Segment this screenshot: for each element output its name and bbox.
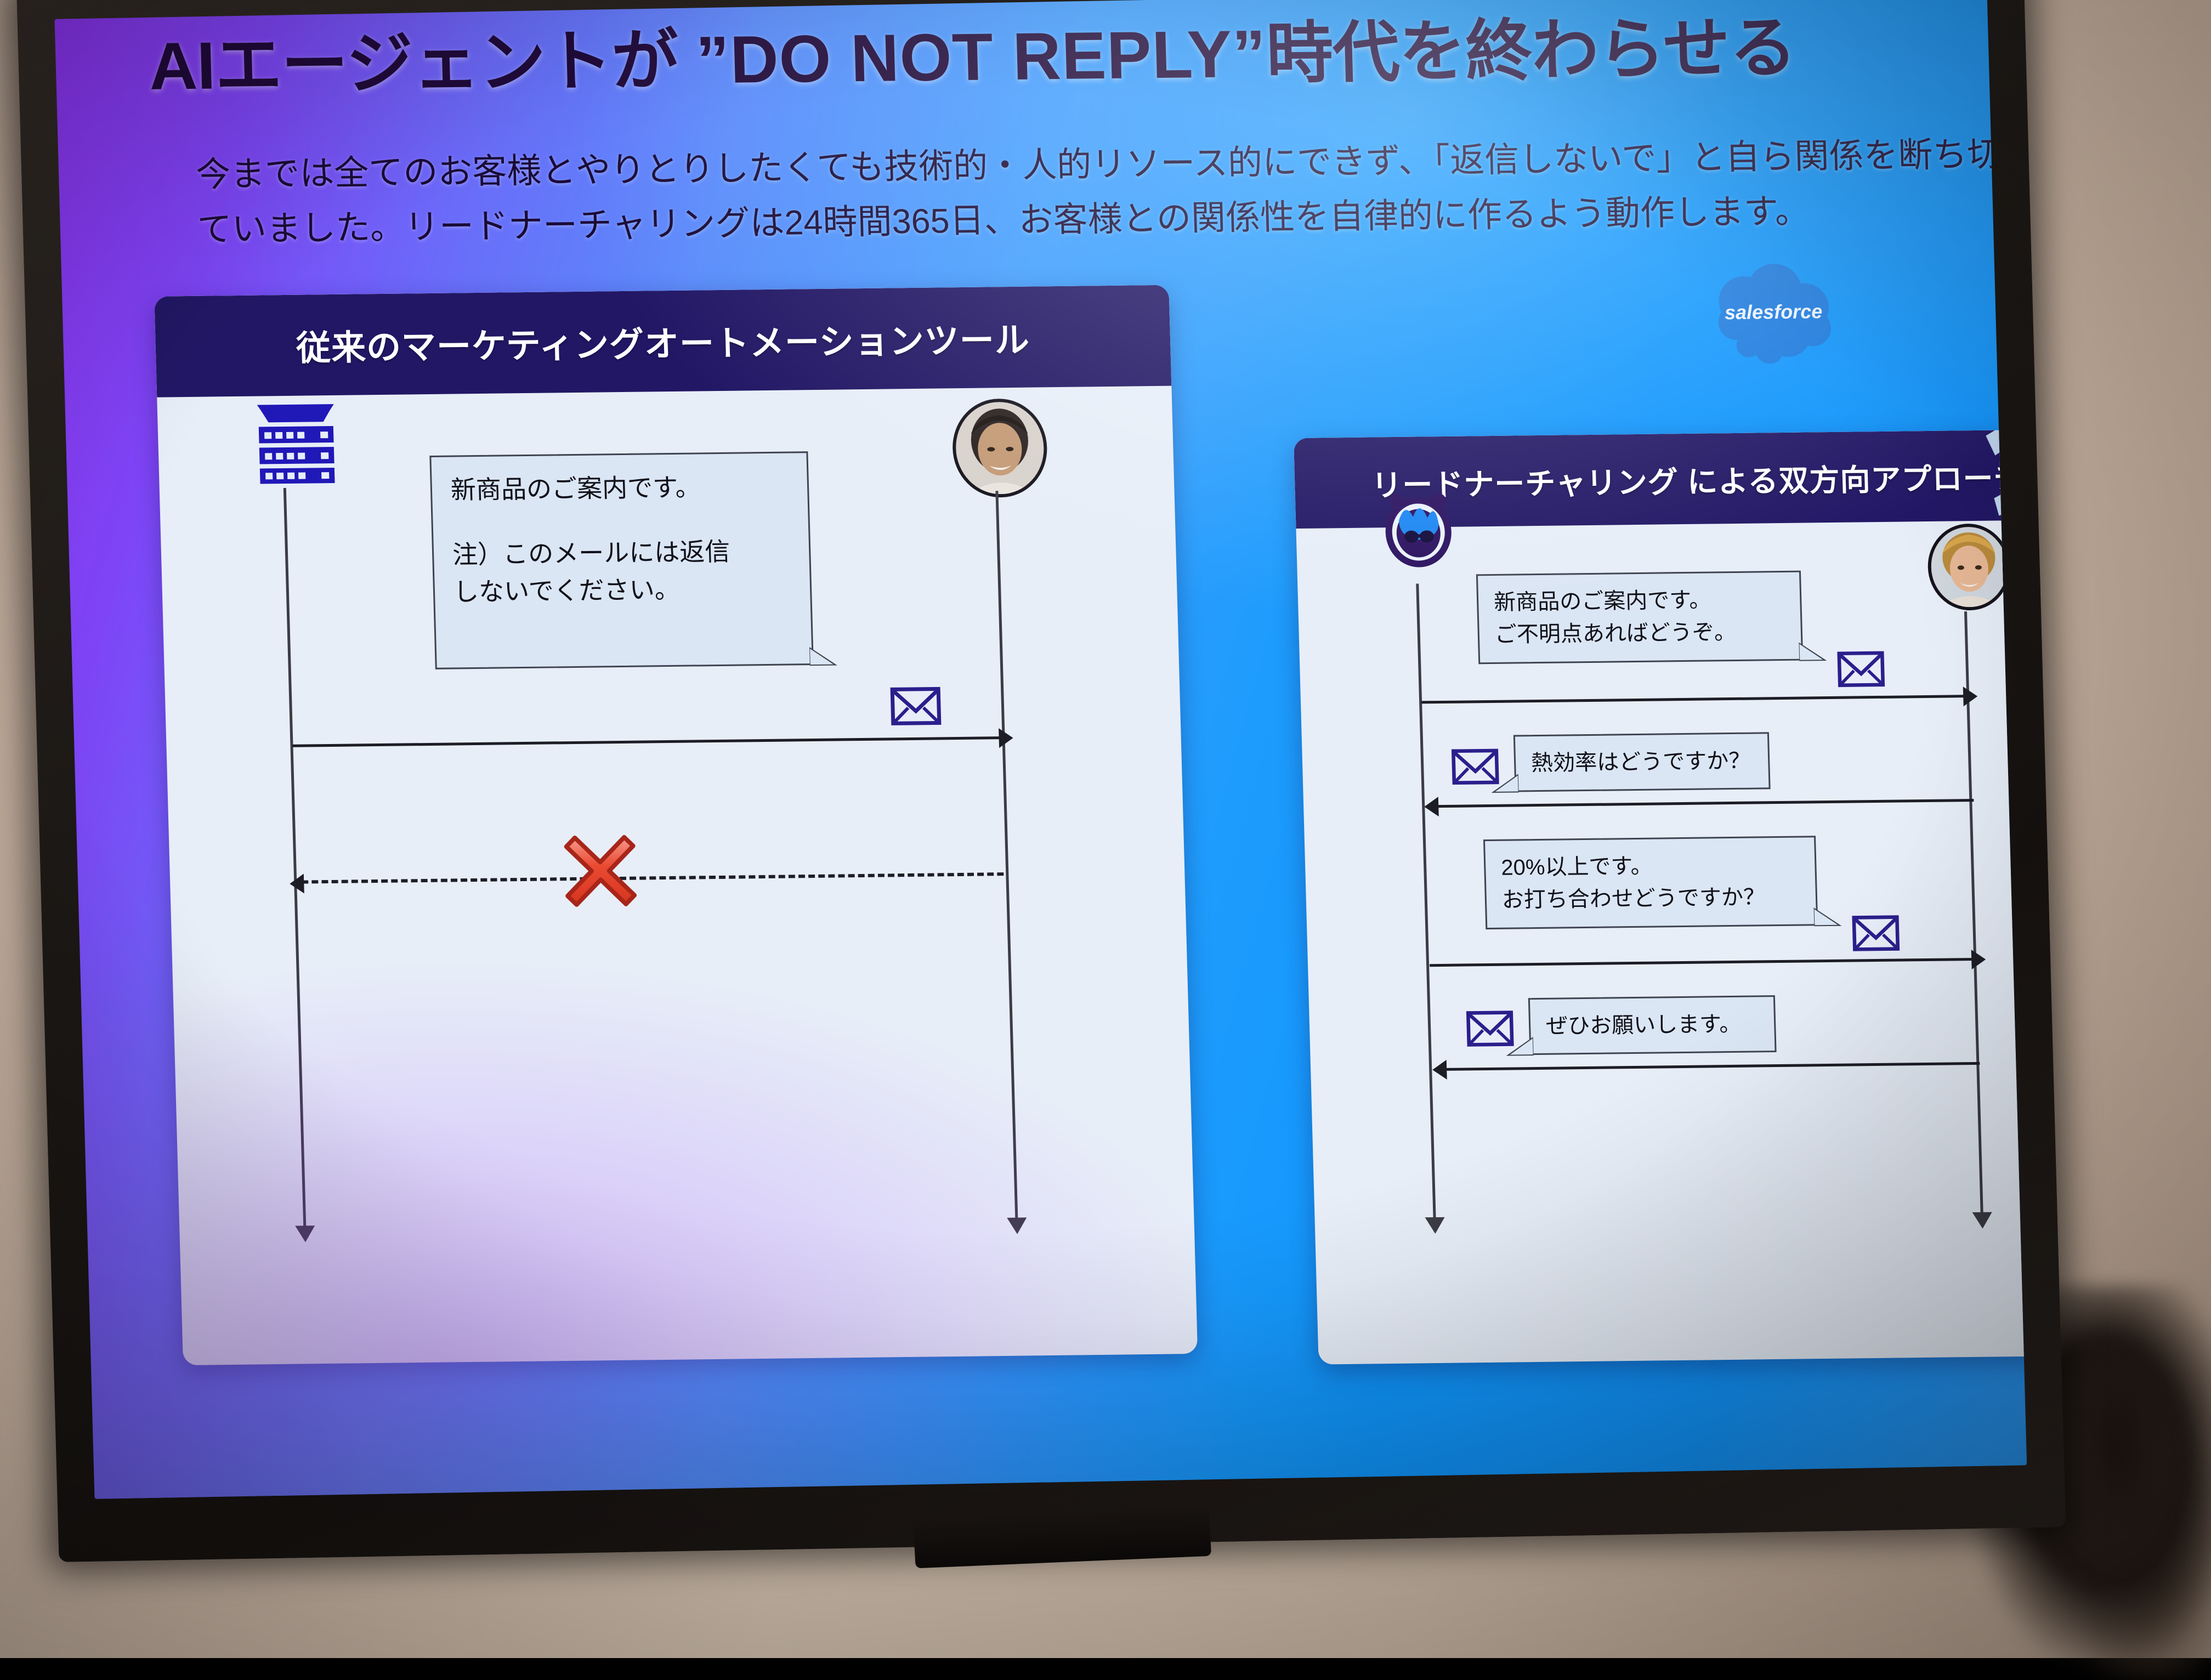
arrow-nurturing-3: [1430, 958, 1974, 967]
bubble-line-1: ぜひお願いします。: [1545, 1008, 1760, 1043]
red-cross-mark-icon: [553, 824, 649, 918]
headline-part-2: 時代を終わらせる: [1266, 10, 1797, 91]
lifeline-customer: [995, 491, 1018, 1220]
bubble-line-1: 20%以上です。: [1501, 849, 1801, 884]
panel-legacy-marketing-automation: 従来のマーケティングオートメーションツール: [154, 285, 1198, 1365]
lifeline-server: [284, 488, 307, 1228]
person-avatar-male: [951, 398, 1048, 498]
bubble-nurturing-4: ぜひお願いします。: [1528, 995, 1777, 1055]
envelope-icon: [1852, 915, 1900, 952]
arrow-nurturing-4: [1444, 1062, 1980, 1071]
bubble-line-1: 熱効率はどうですか？: [1530, 745, 1754, 780]
envelope-icon: [1451, 748, 1499, 785]
headline-part-1: AIエージェントが: [148, 23, 697, 104]
envelope-icon: [890, 686, 942, 725]
bubble-line-2: お打ち合わせどうですか？: [1501, 881, 1802, 917]
salesforce-logo: salesforce: [1704, 261, 1844, 367]
headline-part-en: ”DO NOT REPLY”: [695, 16, 1268, 98]
arrow-nurturing-2: [1436, 799, 1974, 808]
bubble-tail: [1814, 907, 1842, 927]
server-icon: [246, 402, 347, 485]
arrow-nurturing-1: [1421, 695, 1965, 703]
bubble-tail: [809, 647, 837, 666]
bubble-nurturing-2: 熱効率はどうですか？: [1513, 732, 1771, 792]
panel-lead-nurturing: リードナーチャリング による双方向アプローチ: [1294, 429, 2027, 1364]
bubble-nurturing-1: 新商品のご案内です。 ご不明点あればどうぞ。: [1476, 571, 1803, 665]
slide-lede-paragraph: 今までは全てのお客様とやりとりしたくても技術的・人的リソース的にできず、「返信し…: [195, 127, 2027, 257]
envelope-icon: [1466, 1011, 1514, 1047]
bubble-line-spacer: [451, 505, 792, 536]
room-background: AIエージェントが ”DO NOT REPLY”時代を終わらせる 今までは全ての…: [0, 0, 2211, 1658]
avatar-photo: [1930, 526, 2008, 608]
slide-headline: AIエージェントが ”DO NOT REPLY”時代を終わらせる: [148, 8, 1905, 106]
arrow-outbound-email: [292, 736, 1001, 747]
television: AIエージェントが ”DO NOT REPLY”時代を終わらせる 今までは全ての…: [16, 0, 2066, 1562]
avatar-photo: [955, 401, 1045, 495]
lifeline-agent: [1416, 584, 1436, 1220]
envelope-icon: [1837, 651, 1885, 688]
bubble-line-3: 注）このメールには返信: [452, 532, 793, 574]
presentation-slide: AIエージェントが ”DO NOT REPLY”時代を終わらせる 今までは全ての…: [55, 0, 2027, 1499]
arrow-blocked-reply: [302, 872, 1004, 884]
bubble-legacy-outbound: 新商品のご案内です。 注）このメールには返信 しないでください。: [429, 451, 814, 669]
bubble-line-1: 新商品のご案内です。: [1493, 583, 1786, 619]
bot-face-icon: [1376, 486, 1460, 575]
tv-screen: AIエージェントが ”DO NOT REPLY”時代を終わらせる 今までは全ての…: [55, 0, 2027, 1499]
bubble-line-4: しないでください。: [453, 570, 794, 611]
panel-nurturing-body: 新商品のご案内です。 ご不明点あればどうぞ。: [1294, 429, 2027, 1364]
bubble-line-2: ご不明点あればどうぞ。: [1494, 616, 1787, 651]
bubble-tail: [1799, 642, 1827, 661]
bubble-line-1: 新商品のご案内です。: [450, 468, 791, 509]
panel-legacy-body: 新商品のご案内です。 注）このメールには返信 しないでください。: [154, 285, 1198, 1365]
bubble-nurturing-3: 20%以上です。 お打ち合わせどうですか？: [1483, 836, 1818, 929]
svg-text:salesforce: salesforce: [1724, 300, 1822, 323]
